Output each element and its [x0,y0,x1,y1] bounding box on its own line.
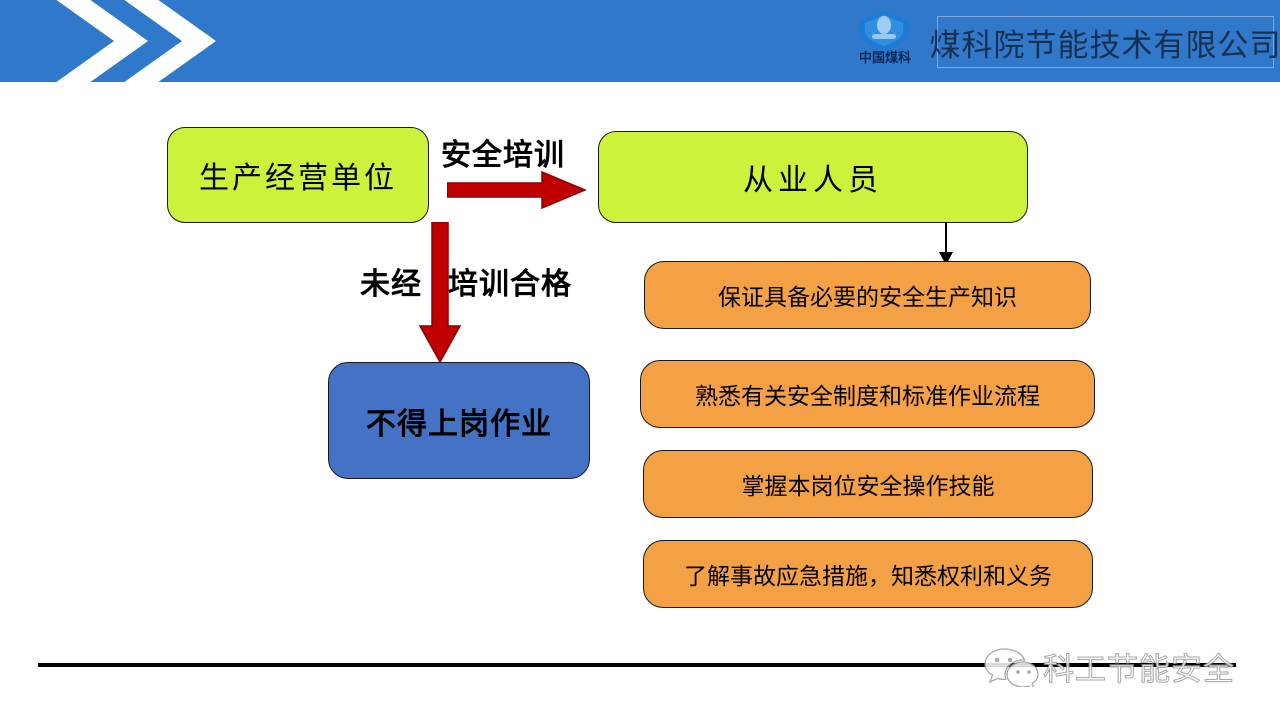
chevron-right-icon [116,0,236,82]
company-name-text: 煤科院节能技术有限公司 [930,20,1280,65]
black-arrow-down-icon [935,222,957,266]
edge-label-without: 未经 [360,259,422,303]
node-production-unit: 生产经营单位 [167,127,429,223]
edge-label-safety-training: 安全培训 [441,130,565,174]
watermark-text: 科工节能安全 [1043,644,1235,689]
header-band: 中国煤科 煤科院节能技术有限公司 [0,0,1280,82]
red-arrow-right-icon [447,170,587,210]
node-employees: 从业人员 [598,131,1028,223]
red-arrow-down-icon [417,222,463,364]
wechat-watermark: 科工节能安全 [983,639,1273,693]
edge-label-training-qualified: 培训合格 [448,259,572,303]
china-coal-technology-emblem-icon [851,8,917,52]
requirement-item: 保证具备必要的安全生产知识 [644,261,1091,329]
node-no-work-allowed: 不得上岗作业 [328,362,590,479]
requirement-item: 了解事故应急措施，知悉权利和义务 [643,540,1093,608]
wechat-icon [983,645,1039,687]
logo-caption: 中国煤科 [843,50,927,65]
company-logo: 中国煤科 [843,8,927,76]
company-name-box: 煤科院节能技术有限公司 [937,16,1274,68]
requirement-item: 掌握本岗位安全操作技能 [643,450,1093,518]
requirement-item: 熟悉有关安全制度和标准作业流程 [640,360,1095,428]
